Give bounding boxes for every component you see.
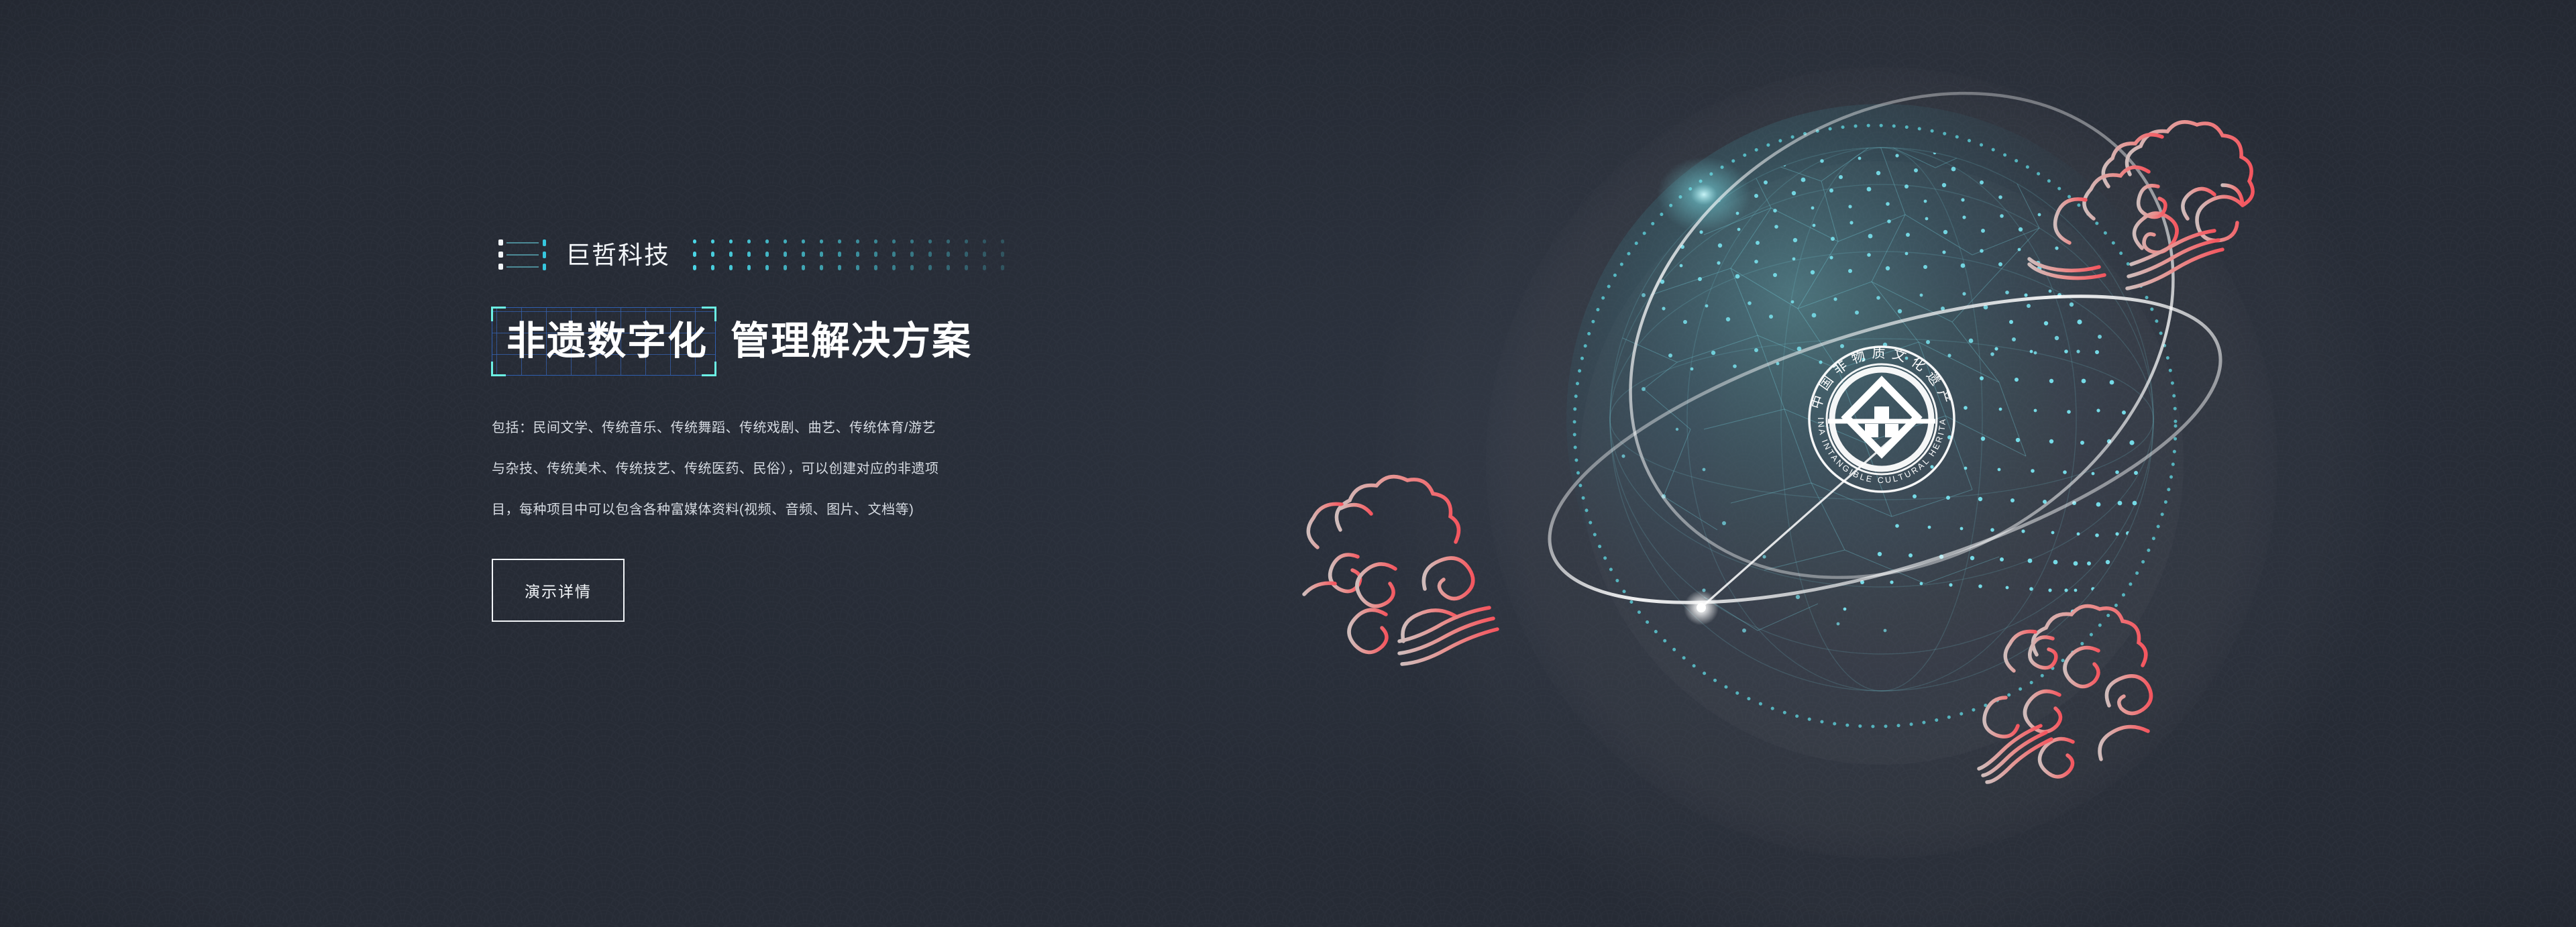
dot-grid-dot [784, 265, 787, 270]
dot-grid-dot [892, 239, 896, 243]
three-lines-mark-icon [492, 234, 552, 276]
dot-grid-dot [711, 239, 714, 243]
dot-grid-dot [802, 252, 805, 257]
dot-grid-dot [874, 265, 877, 270]
dot-grid-dot [892, 265, 896, 270]
dot-grid-row [693, 265, 1019, 270]
dot-grid-dot [947, 252, 950, 257]
hero-banner: 中国非物质文化遗产 CHINA INTANGIBLE CULTURAL HERI… [0, 0, 2576, 927]
dot-grid-dot [965, 265, 968, 270]
dot-grid-dot [711, 265, 714, 270]
dot-grid-dot [983, 265, 986, 270]
dot-grid-dot [1001, 265, 1004, 270]
corner-bracket-top-left-icon [491, 307, 506, 321]
dot-grid-dot [965, 239, 968, 243]
dot-grid-row [693, 239, 1019, 243]
auspicious-cloud-icon-top-right [2029, 87, 2271, 282]
hero-content: 巨哲科技 非遗数字化 管理解决方案 包括：民间文学、传统音乐、传统舞蹈、传统戏剧… [492, 233, 1243, 622]
dot-grid-dot [820, 265, 823, 270]
dot-grid-dot [910, 252, 914, 257]
dot-grid-dot [729, 252, 733, 257]
dot-grid-dot [874, 239, 877, 243]
dot-grid-dot [910, 239, 914, 243]
dot-grid-dot [856, 265, 859, 270]
dot-grid-dot [856, 239, 859, 243]
dot-grid-dot [747, 252, 751, 257]
globe-hotspot [1657, 157, 1751, 232]
brand-row: 巨哲科技 [492, 233, 1243, 276]
dot-grid-dot [820, 239, 823, 243]
brand-name: 巨哲科技 [566, 243, 670, 268]
dot-grid-dot [711, 252, 714, 257]
dot-grid-dot [784, 239, 787, 243]
dot-grid-dot [838, 252, 841, 257]
demo-details-button[interactable]: 演示详情 [492, 559, 625, 622]
dot-grid-dot [765, 239, 769, 243]
globe-artwork-scene: 中国非物质文化遗产 CHINA INTANGIBLE CULTURAL HERI… [1328, 0, 2435, 927]
dot-grid-dot [1001, 239, 1004, 243]
headline-emphasis: 非遗数字化 [506, 319, 708, 363]
dot-grid-dot [910, 265, 914, 270]
dot-grid-dot [983, 239, 986, 243]
description-line-3: 目，每种项目中可以包含各种富媒体资料(视频、音频、图片、文档等) [492, 490, 1186, 531]
dot-grid-dot [965, 252, 968, 257]
dot-grid-dot [892, 252, 896, 257]
dot-grid-dot [820, 252, 823, 257]
dot-grid-dot [928, 239, 932, 243]
dot-grid-row [693, 252, 1019, 257]
headline-rest: 管理解决方案 [731, 322, 972, 361]
dot-grid-dot [693, 265, 696, 270]
dot-grid-dot [856, 252, 859, 257]
dot-grid-dot [838, 239, 841, 243]
page-title: 非遗数字化 管理解决方案 [492, 307, 1243, 376]
auspicious-cloud-icon-left [1288, 449, 1529, 644]
dot-grid-dot [765, 265, 769, 270]
dot-grid-dot [928, 252, 932, 257]
dot-grid-dot [802, 265, 805, 270]
dot-grid-dot [729, 239, 733, 243]
auspicious-cloud-icon-bottom-right [1979, 604, 2200, 778]
dot-grid-dot [947, 239, 950, 243]
dot-grid-dot [747, 239, 751, 243]
dot-grid-dot [693, 239, 696, 243]
dot-grid-dot [693, 252, 696, 257]
corner-bracket-bottom-left-icon [491, 362, 506, 376]
dot-grid-dot [765, 252, 769, 257]
dot-grid-dot [747, 265, 751, 270]
dot-grid-decor-icon [693, 239, 1019, 270]
dot-grid-dot [874, 252, 877, 257]
dot-grid-dot [947, 265, 950, 270]
description-text: 包括：民间文学、传统音乐、传统舞蹈、传统戏剧、曲艺、传统体育/游艺 与杂技、传统… [492, 408, 1186, 531]
dot-grid-dot [1001, 252, 1004, 257]
dot-grid-dot [784, 252, 787, 257]
dot-grid-dot [983, 252, 986, 257]
description-line-2: 与杂技、传统美术、传统技艺、传统医药、民俗），可以创建对应的非遗项 [492, 449, 1186, 490]
dot-grid-dot [729, 265, 733, 270]
description-line-1: 包括：民间文学、传统音乐、传统舞蹈、传统戏剧、曲艺、传统体育/游艺 [492, 408, 1186, 449]
headline-highlight-box: 非遗数字化 [492, 307, 716, 376]
corner-bracket-bottom-right-icon [702, 362, 716, 376]
dot-grid-dot [928, 265, 932, 270]
dot-grid-dot [802, 239, 805, 243]
dot-grid-dot [838, 265, 841, 270]
